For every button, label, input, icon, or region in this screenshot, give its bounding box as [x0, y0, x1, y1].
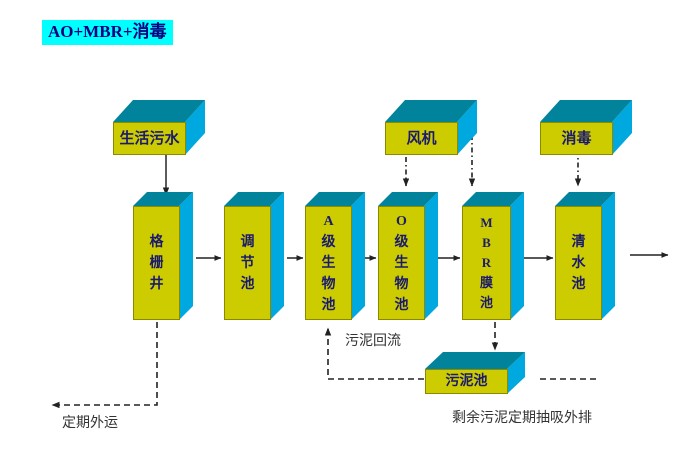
box-o-stage-bio[interactable]: O 级 生 物 池 — [378, 192, 438, 320]
box-sludge-tank[interactable]: 污泥池 — [425, 352, 540, 394]
box-front-face: 清 水 池 — [555, 206, 602, 320]
label-sludge-return: 污泥回流 — [345, 333, 401, 350]
box-front-face: O 级 生 物 池 — [378, 206, 425, 320]
box-blower[interactable]: 风机 — [385, 100, 495, 155]
box-label: 消毒 — [561, 130, 591, 148]
box-label: 清 水 池 — [572, 232, 586, 295]
box-label: 生活污水 — [119, 130, 179, 148]
box-side-face — [351, 192, 365, 320]
box-label: 格 栅 井 — [150, 232, 164, 295]
box-label: O 级 生 物 池 — [395, 211, 409, 316]
box-mbr-membrane[interactable]: M B R 膜 池 — [462, 192, 524, 320]
box-label: A 级 生 物 池 — [322, 211, 336, 316]
box-side-face — [601, 192, 615, 320]
box-influent[interactable]: 生活污水 — [113, 100, 223, 155]
box-front-face: 污泥池 — [425, 369, 508, 394]
box-side-face — [510, 192, 524, 320]
box-front-face: A 级 生 物 池 — [305, 206, 352, 320]
box-grating-well[interactable]: 格 栅 井 — [133, 192, 193, 320]
box-front-face: M B R 膜 池 — [462, 206, 511, 320]
box-front-face: 生活污水 — [113, 122, 186, 155]
diagram-canvas: AO+MBR+消毒 生活污水 风机 消毒 格 栅 井 — [0, 0, 700, 450]
line-grating-to-haul-out — [52, 322, 157, 405]
box-equalization[interactable]: 调 节 池 — [224, 192, 284, 320]
box-front-face: 调 节 池 — [224, 206, 271, 320]
box-side-face — [270, 192, 284, 320]
box-label: 污泥池 — [446, 373, 488, 391]
box-a-stage-bio[interactable]: A 级 生 物 池 — [305, 192, 365, 320]
box-side-face — [424, 192, 438, 320]
box-label: 调 节 池 — [241, 232, 255, 295]
box-front-face: 消毒 — [540, 122, 613, 155]
diagram-title: AO+MBR+消毒 — [42, 20, 173, 45]
box-front-face: 风机 — [385, 122, 458, 155]
label-excess-sludge: 剩余污泥定期抽吸外排 — [452, 410, 592, 427]
box-clear-water[interactable]: 清 水 池 — [555, 192, 615, 320]
box-label: 风机 — [406, 130, 436, 148]
box-front-face: 格 栅 井 — [133, 206, 180, 320]
box-side-face — [179, 192, 193, 320]
label-periodic-haul: 定期外运 — [62, 415, 118, 432]
box-label: M B R 膜 池 — [480, 213, 493, 313]
box-disinfect[interactable]: 消毒 — [540, 100, 650, 155]
